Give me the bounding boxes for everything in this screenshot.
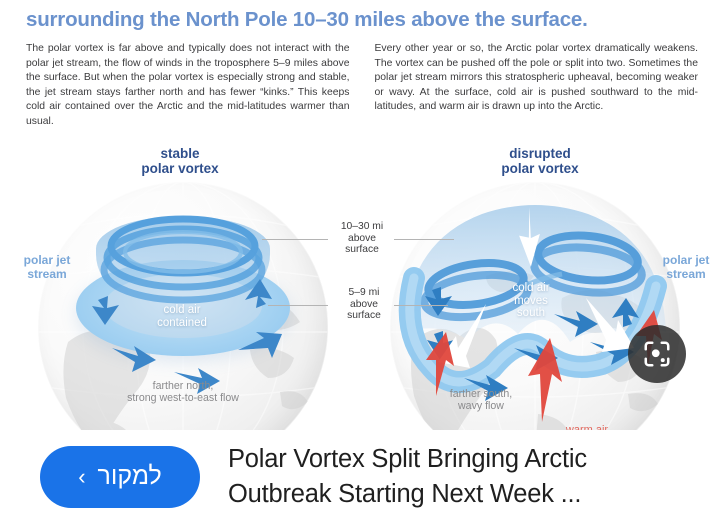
globe-left: cold air contained farther north, strong… bbox=[38, 182, 328, 430]
article-paragraph-right: Every other year or so, the Arctic polar… bbox=[375, 42, 699, 130]
leader-line-upper-left bbox=[262, 239, 328, 240]
leader-line-lower-left bbox=[268, 305, 328, 306]
article-headline: surrounding the North Pole 10–30 miles a… bbox=[26, 8, 698, 32]
visit-source-label: למקור bbox=[98, 462, 162, 491]
diagram-left-title: stable polar vortex bbox=[0, 146, 360, 176]
callout-upper-altitude: 10–30 mi above surface bbox=[326, 221, 398, 256]
polar-jet-stream-label-left: polar jet stream bbox=[4, 254, 90, 281]
cold-air-moves-south-label: cold air moves south bbox=[476, 282, 586, 320]
google-lens-icon bbox=[642, 339, 672, 369]
leader-line-lower-right bbox=[394, 305, 448, 306]
article-image[interactable]: surrounding the North Pole 10–30 miles a… bbox=[0, 0, 720, 430]
callout-lower-altitude: 5–9 mi above surface bbox=[328, 287, 400, 322]
result-page-title[interactable]: Polar Vortex Split Bringing Arctic Outbr… bbox=[228, 442, 678, 512]
image-viewer: surrounding the North Pole 10–30 miles a… bbox=[0, 0, 720, 523]
bottom-action-bar: ‹ למקור Polar Vortex Split Bringing Arct… bbox=[0, 430, 720, 523]
article-paragraph-left: The polar vortex is far above and typica… bbox=[26, 42, 350, 130]
farther-south-label: farther south, wavy flow bbox=[416, 388, 546, 412]
cold-air-contained-label: cold air contained bbox=[116, 304, 248, 329]
diagram-right-title: disrupted polar vortex bbox=[360, 146, 720, 176]
article-body: The polar vortex is far above and typica… bbox=[26, 42, 698, 130]
diagram-stable-polar-vortex: stable polar vortex bbox=[0, 142, 360, 430]
chevron-left-icon: ‹ bbox=[78, 466, 85, 488]
diagram-disrupted-polar-vortex: disrupted polar vortex bbox=[360, 142, 720, 430]
polar-jet-stream-label-right: polar jet stream bbox=[650, 254, 720, 281]
visit-source-button[interactable]: ‹ למקור bbox=[40, 446, 200, 508]
globe-right: cold air moves south farther south, wavy… bbox=[390, 182, 680, 430]
google-lens-button[interactable] bbox=[628, 325, 686, 383]
leader-line-upper-right bbox=[394, 239, 454, 240]
farther-north-label: farther north, strong west-to-east flow bbox=[73, 380, 293, 404]
